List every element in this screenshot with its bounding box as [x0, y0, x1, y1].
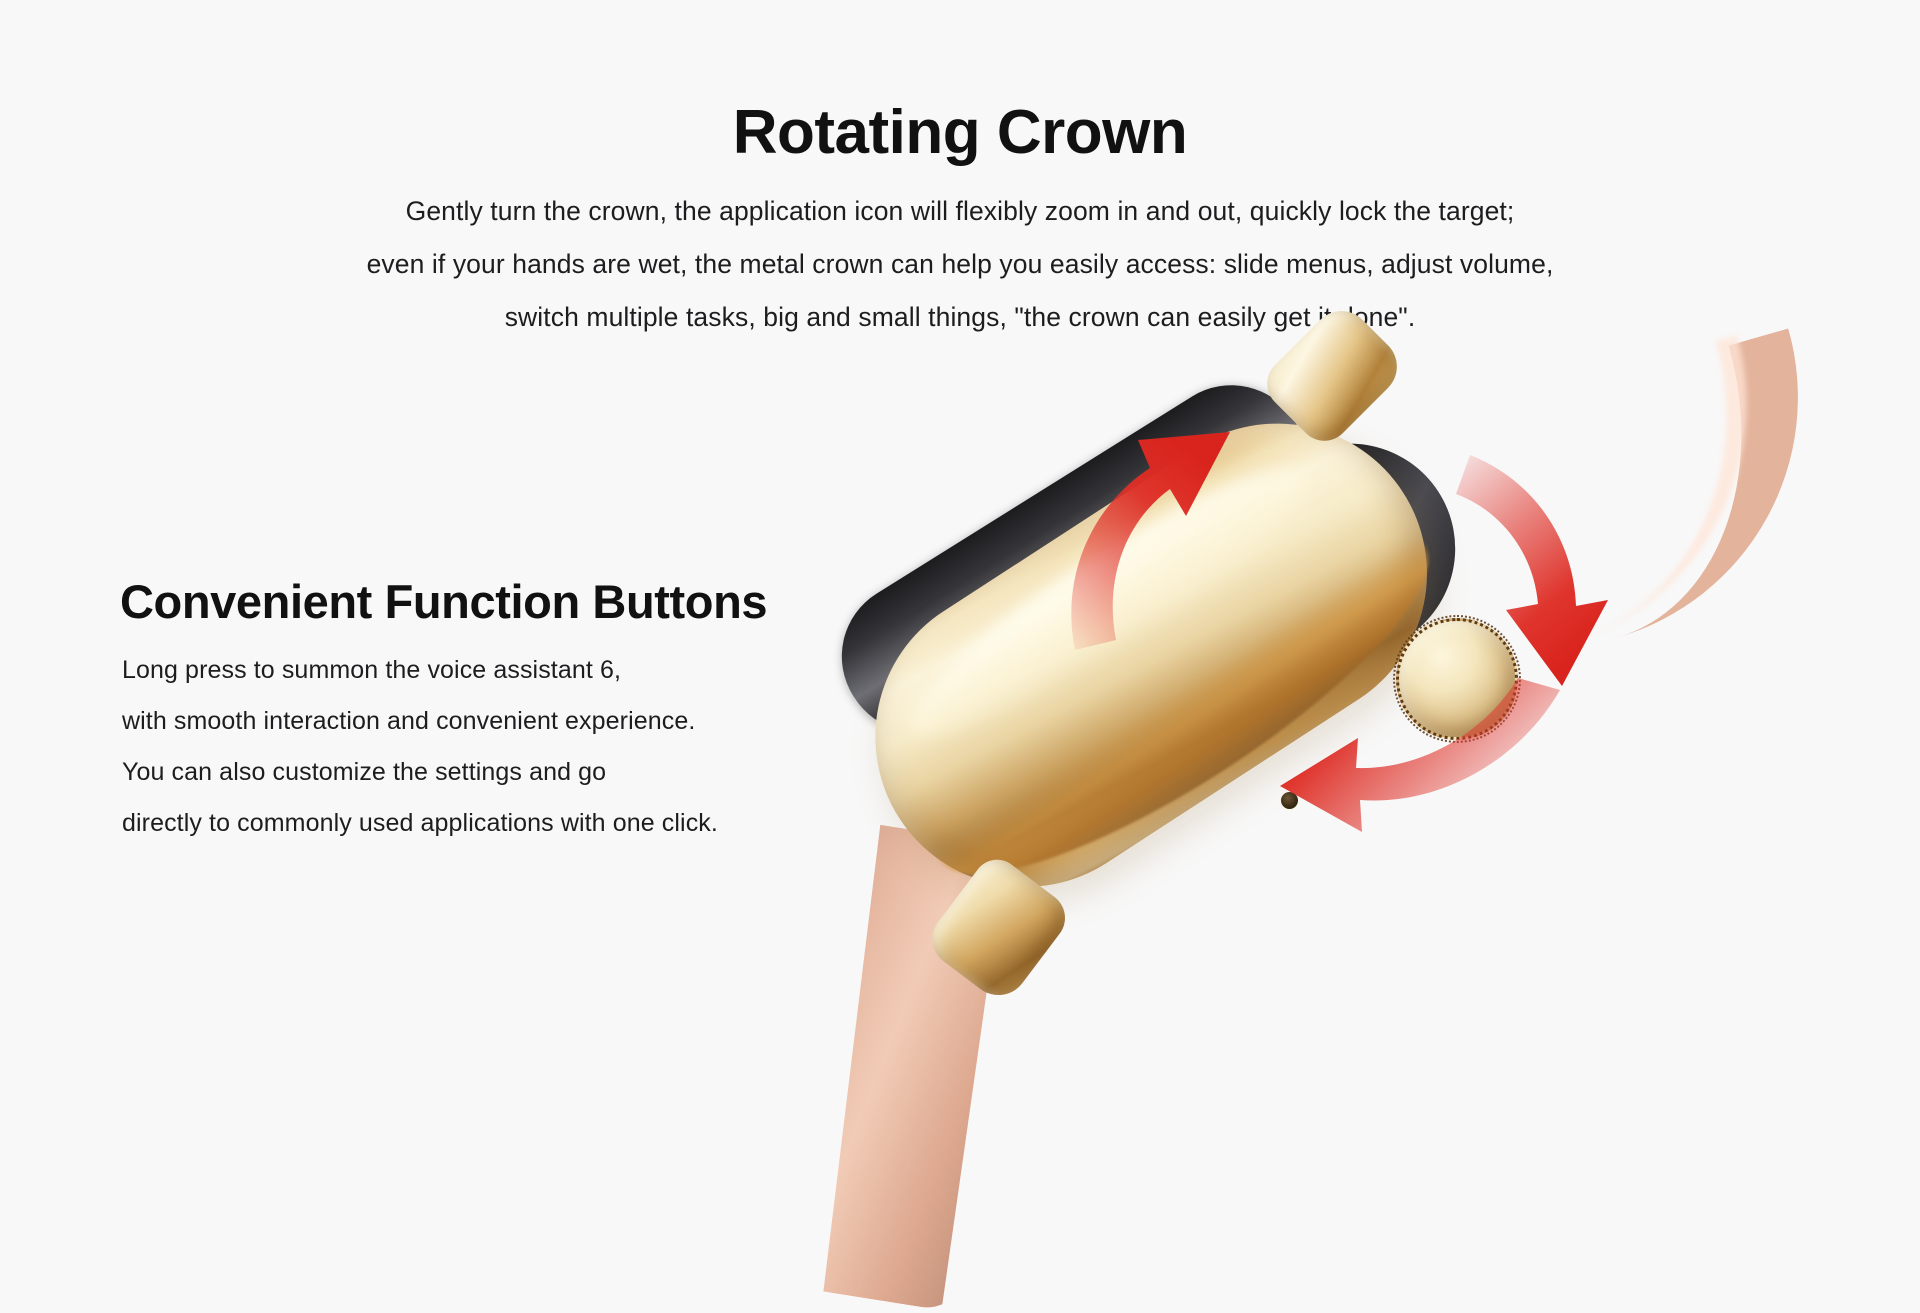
hero-description: Gently turn the crown, the application i…: [0, 185, 1920, 344]
watch-assembly: [880, 360, 1920, 1300]
page-title: Rotating Crown: [0, 100, 1920, 165]
section-description-line-1: Long press to summon the voice assistant…: [122, 645, 718, 696]
microphone-hole: [1281, 792, 1298, 809]
hero-description-line-1: Gently turn the crown, the application i…: [0, 185, 1920, 238]
section-description: Long press to summon the voice assistant…: [122, 645, 718, 849]
product-feature-page: Rotating Crown Gently turn the crown, th…: [0, 0, 1920, 1300]
hero-description-line-3: switch multiple tasks, big and small thi…: [0, 291, 1920, 344]
hero-description-line-2: even if your hands are wet, the metal cr…: [0, 238, 1920, 291]
section-description-line-2: with smooth interaction and convenient e…: [122, 696, 718, 747]
crown-knurl-ring: [1393, 615, 1521, 743]
section-description-line-4: directly to commonly used applications w…: [122, 798, 718, 849]
rotating-crown[interactable]: [1396, 618, 1518, 740]
product-image-smartwatch: [880, 360, 1920, 1300]
section-description-line-3: You can also customize the settings and …: [122, 747, 718, 798]
section-title: Convenient Function Buttons: [120, 577, 767, 628]
